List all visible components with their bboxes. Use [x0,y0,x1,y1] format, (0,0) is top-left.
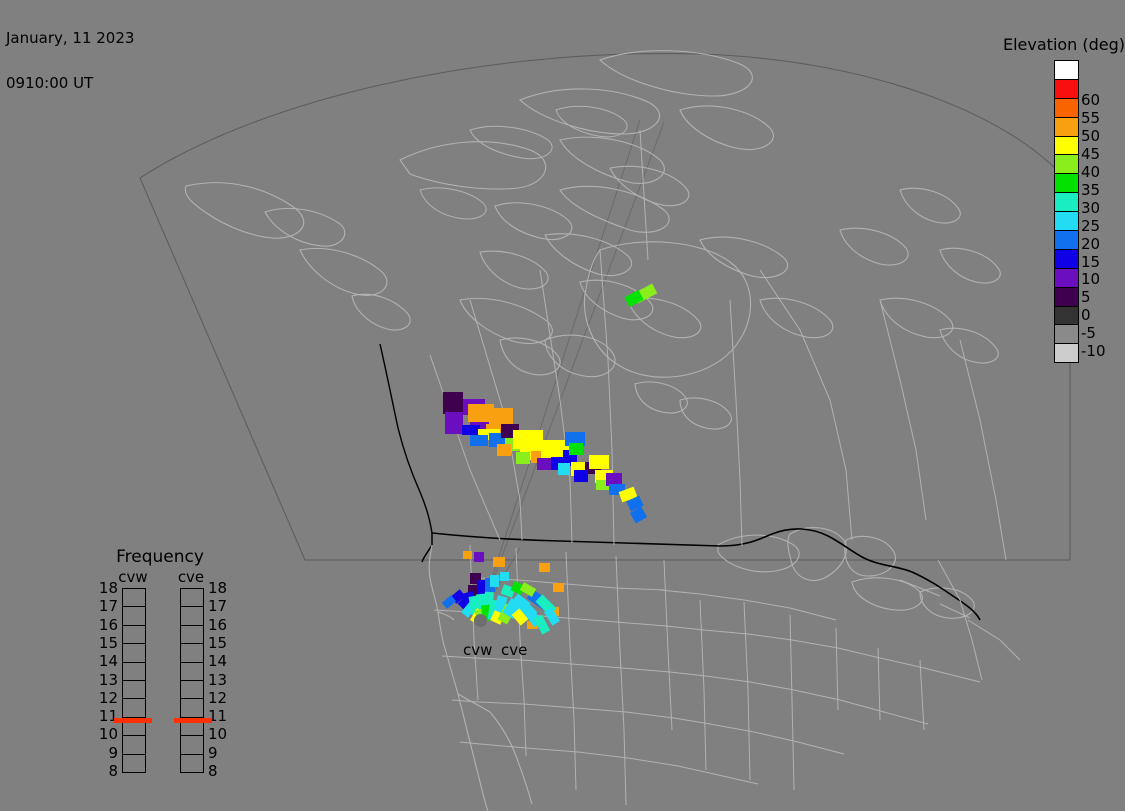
radar-cell [516,452,530,464]
timestamp-date: January, 11 2023 [6,31,134,46]
elevation-tick-label: 0 [1081,308,1091,323]
radar-cell [574,470,588,482]
elevation-swatch-13 [1055,306,1078,325]
frequency-tick-label: 15 [208,636,234,651]
frequency-tick-label: 18 [208,581,234,596]
frequency-cell [181,662,203,680]
elevation-tick-label: 20 [1081,237,1100,252]
frequency-cell [181,589,203,606]
elevation-swatch-6 [1055,173,1078,192]
frequency-cell [123,662,145,680]
frequency-scale-cve[interactable] [180,588,204,773]
radar-cell [490,575,499,587]
frequency-cell [181,625,203,643]
frequency-cell [123,606,145,624]
frequency-tick-label: 9 [92,746,118,761]
frequency-cell [123,625,145,643]
radar-cell [474,552,484,562]
frequency-tick-label: 13 [92,673,118,688]
radar-cell [462,425,480,435]
frequency-tick-label: 8 [208,764,234,779]
frequency-cell [123,680,145,698]
frequency-marker-cvw [114,718,152,723]
frequency-tick-label: 17 [208,599,234,614]
station-marker-dot [474,614,487,627]
frequency-tick-label: 13 [208,673,234,688]
frequency-tick-label: 12 [208,691,234,706]
elevation-swatch-5 [1055,154,1078,173]
elevation-colorbar [1054,60,1079,363]
elevation-swatch-10 [1055,249,1078,268]
frequency-cell [123,643,145,661]
elevation-tick-label: 45 [1081,147,1100,162]
elevation-swatch-14 [1055,324,1078,343]
frequency-tick-label: 8 [92,764,118,779]
station-label-cve: cve [501,643,527,658]
radar-cell [470,435,488,446]
frequency-tick-label: 18 [92,581,118,596]
elevation-tick-label: 55 [1081,111,1100,126]
timestamp: January, 11 2023 0910:00 UT [6,1,134,121]
frequency-panel: Frequency cvw18171615141312111098cve1817… [80,548,240,788]
frequency-tick-label: 17 [92,599,118,614]
elevation-tick-label: 25 [1081,219,1100,234]
frequency-cell [181,606,203,624]
frequency-tick-label: 16 [92,618,118,633]
frequency-column-header-cve: cve [171,570,211,585]
radar-cell [589,455,609,469]
radar-map-visualization: January, 11 2023 0910:00 UT Elevation (d… [0,0,1125,811]
elevation-tick-label: 15 [1081,255,1100,270]
radar-cell [539,563,550,572]
timestamp-time: 0910:00 UT [6,76,134,91]
frequency-cell [123,589,145,606]
elevation-swatch-1 [1055,79,1078,98]
frequency-marker-cve [174,718,212,723]
radar-cell [553,583,564,592]
frequency-panel-title: Frequency [80,548,240,566]
radar-cell [497,444,511,456]
station-label-cvw: cvw [463,643,492,658]
radar-cell [537,458,553,470]
frequency-cell [123,698,145,716]
frequency-cell [181,698,203,716]
frequency-scale-cvw[interactable] [122,588,146,773]
frequency-column-header-cvw: cvw [113,570,153,585]
elevation-swatch-15 [1055,343,1078,362]
elevation-swatch-11 [1055,268,1078,287]
elevation-swatch-4 [1055,136,1078,155]
frequency-tick-label: 15 [92,636,118,651]
frequency-tick-label: 14 [208,654,234,669]
elevation-swatch-9 [1055,230,1078,249]
elevation-swatch-7 [1055,192,1078,211]
elevation-tick-label: -5 [1081,326,1096,341]
elevation-tick-label: 10 [1081,272,1100,287]
radar-cell [569,443,583,455]
radar-cell [445,412,463,434]
radar-cell [463,551,472,559]
elevation-tick-label: 40 [1081,165,1100,180]
elevation-swatch-8 [1055,211,1078,230]
frequency-cell [181,735,203,753]
frequency-tick-label: 10 [208,727,234,742]
frequency-tick-label: 16 [208,618,234,633]
elevation-tick-label: 35 [1081,183,1100,198]
frequency-cell [123,754,145,772]
radar-cell [558,463,570,475]
elevation-tick-label: 50 [1081,129,1100,144]
elevation-tick-label: 30 [1081,201,1100,216]
elevation-tick-label: 60 [1081,93,1100,108]
radar-cell [513,430,543,449]
frequency-tick-label: 10 [92,727,118,742]
elevation-swatch-2 [1055,98,1078,117]
frequency-cell [181,643,203,661]
elevation-legend-title: Elevation (deg) [1003,36,1125,54]
elevation-swatch-3 [1055,117,1078,136]
frequency-cell [181,680,203,698]
elevation-tick-label: 5 [1081,290,1091,305]
frequency-tick-label: 12 [92,691,118,706]
frequency-cell [181,754,203,772]
elevation-swatch-12 [1055,287,1078,306]
elevation-swatch-0 [1055,61,1078,79]
radar-cell [443,392,463,414]
frequency-tick-label: 9 [208,746,234,761]
radar-cell [489,408,513,424]
radar-cell [500,572,509,581]
frequency-cell [123,735,145,753]
elevation-tick-label: -10 [1081,344,1106,359]
frequency-tick-label: 14 [92,654,118,669]
radar-cell [493,557,505,567]
